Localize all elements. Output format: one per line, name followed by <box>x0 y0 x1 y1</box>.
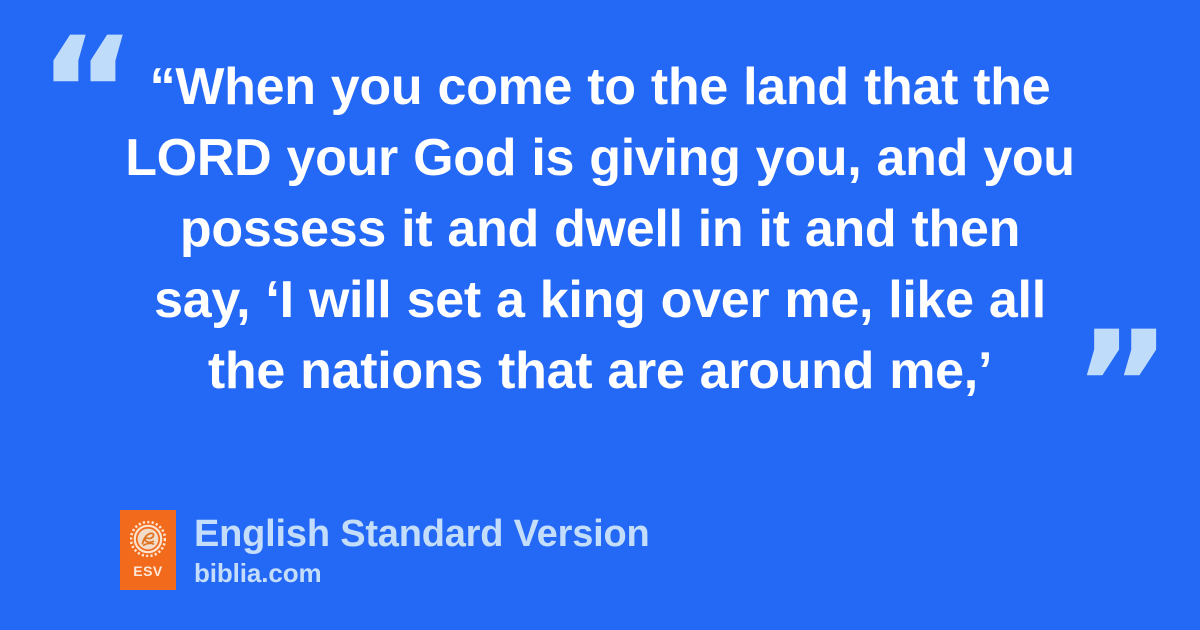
quote-line-5: the nations that are around me,’ <box>58 336 1142 407</box>
quote-block: “When you come to the land that the LORD… <box>0 52 1200 407</box>
quote-line-4: say, ‘I will set a king over me, like al… <box>58 265 1142 336</box>
esv-seal-icon <box>130 521 166 557</box>
site-name: biblia.com <box>194 558 650 588</box>
bible-version-name: English Standard Version <box>194 512 650 556</box>
decorative-close-quote-icon: ” <box>1073 312 1172 462</box>
quote-line-1: “When you come to the land that the <box>58 52 1142 123</box>
esv-badge-label: ESV <box>133 564 163 578</box>
attribution: ESV English Standard Version biblia.com <box>120 510 650 590</box>
bible-verse-card: “ “When you come to the land that the LO… <box>0 0 1200 630</box>
esv-logo-badge: ESV <box>120 510 176 590</box>
attribution-text: English Standard Version biblia.com <box>194 512 650 588</box>
quote-line-3: possess it and dwell in it and then <box>58 194 1142 265</box>
quote-line-2: LORD your God is giving you, and you <box>58 123 1142 194</box>
